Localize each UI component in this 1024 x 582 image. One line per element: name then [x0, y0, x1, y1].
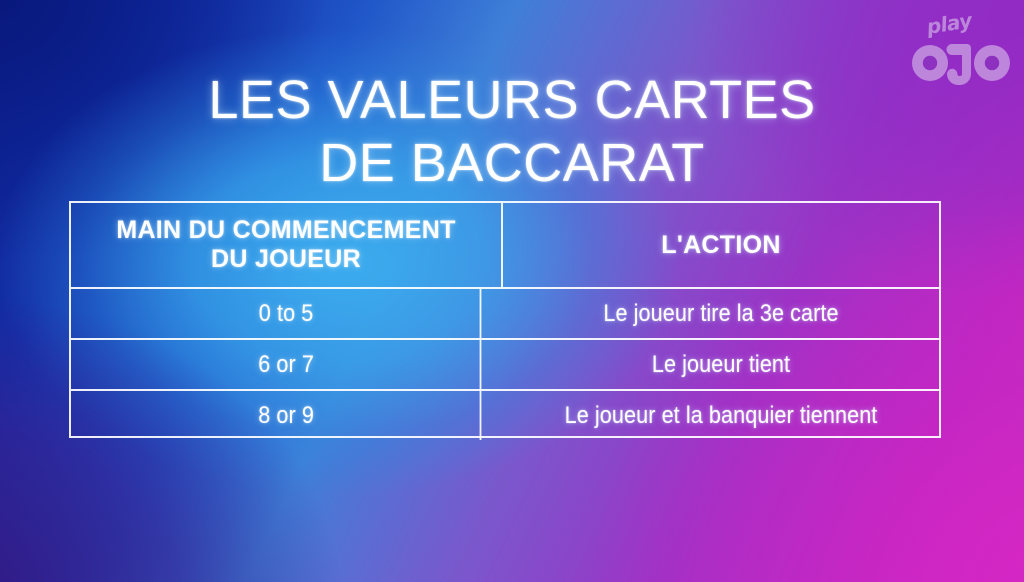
table-row: 8 or 9 Le joueur et la banquier tiennent	[71, 391, 939, 440]
cell-action-value: Le joueur et la banquier tiennent	[525, 391, 917, 440]
page-title: LES VALEURS CARTES DE BACCARAT	[0, 69, 1024, 195]
cell-hand-value: 8 or 9	[93, 391, 482, 440]
title-line-1: LES VALEURS CARTES	[0, 69, 1024, 132]
cell-hand-value: 0 to 5	[93, 289, 482, 338]
header-cell-player-hand: MAIN DU COMMENCEMENT DU JOUEUR	[71, 203, 503, 287]
header-cell-action: L'ACTION	[503, 203, 939, 287]
table-header-row: MAIN DU COMMENCEMENT DU JOUEUR L'ACTION	[71, 203, 939, 289]
table-row: 6 or 7 Le joueur tient	[71, 340, 939, 391]
cell-action-value: Le joueur tire la 3e carte	[525, 289, 917, 338]
baccarat-values-table: MAIN DU COMMENCEMENT DU JOUEUR L'ACTION …	[69, 201, 941, 438]
cell-hand-value: 6 or 7	[93, 340, 482, 389]
header-player-hand-line-2: DU JOUEUR	[116, 245, 455, 274]
svg-text:play: play	[924, 8, 975, 39]
cell-action-value: Le joueur tient	[525, 340, 917, 389]
slide-canvas: play LES VALEURS CARTES D	[0, 0, 1024, 582]
logo-script-word: play	[924, 8, 975, 39]
table-row: 0 to 5 Le joueur tire la 3e carte	[71, 289, 939, 340]
header-player-hand-line-1: MAIN DU COMMENCEMENT	[116, 216, 455, 245]
title-line-2: DE BACCARAT	[0, 132, 1024, 195]
